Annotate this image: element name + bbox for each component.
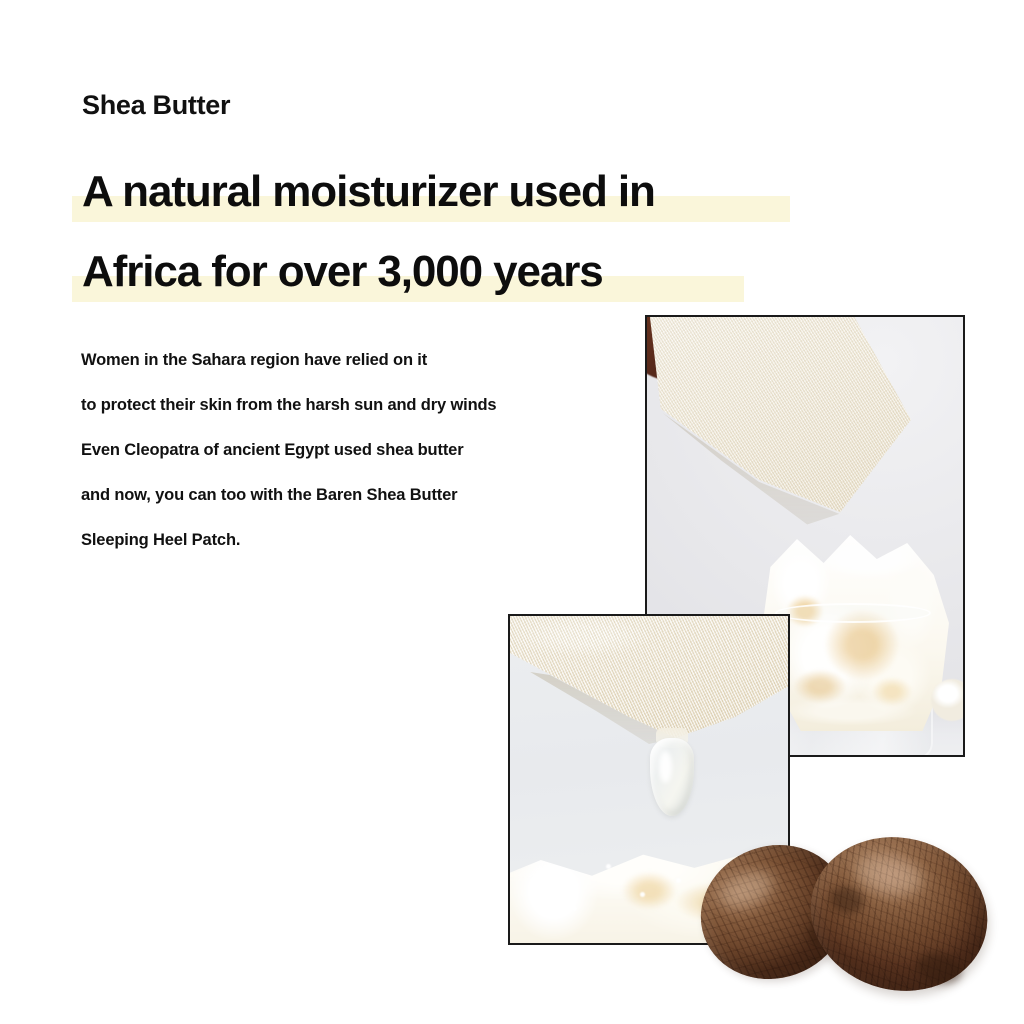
body-line-1: Women in the Sahara region have relied o… (81, 338, 601, 383)
butter-fleck (931, 679, 965, 721)
cream-sparkle (572, 906, 577, 911)
cream-sparkle (606, 864, 611, 869)
headline-line-2-text: Africa for over 3,000 years (80, 247, 603, 296)
headline-line-1: A natural moisturizer used in (80, 152, 840, 232)
cream-sparkle (676, 878, 681, 883)
headline-line-2: Africa for over 3,000 years (80, 232, 840, 312)
cream-sparkle (640, 892, 645, 897)
body-line-2: to protect their skin from the harsh sun… (81, 383, 601, 428)
body-line-3: Even Cleopatra of ancient Egypt used she… (81, 428, 601, 473)
body-line-4: and now, you can too with the Baren Shea… (81, 473, 601, 518)
body-copy: Women in the Sahara region have relied o… (81, 338, 601, 563)
nut-texture (794, 819, 1003, 1010)
headline-line-1-text: A natural moisturizer used in (80, 167, 655, 216)
shea-nut-right (794, 819, 1003, 1010)
promo-banner: Shea Butter A natural moisturizer used i… (0, 0, 1024, 1024)
page-title: A natural moisturizer used in Africa for… (80, 152, 840, 312)
eyebrow-label: Shea Butter (82, 91, 230, 121)
shea-nuts-image (700, 832, 990, 992)
glass-jar-rim (775, 603, 931, 623)
body-line-5: Sleeping Heel Patch. (81, 518, 601, 563)
